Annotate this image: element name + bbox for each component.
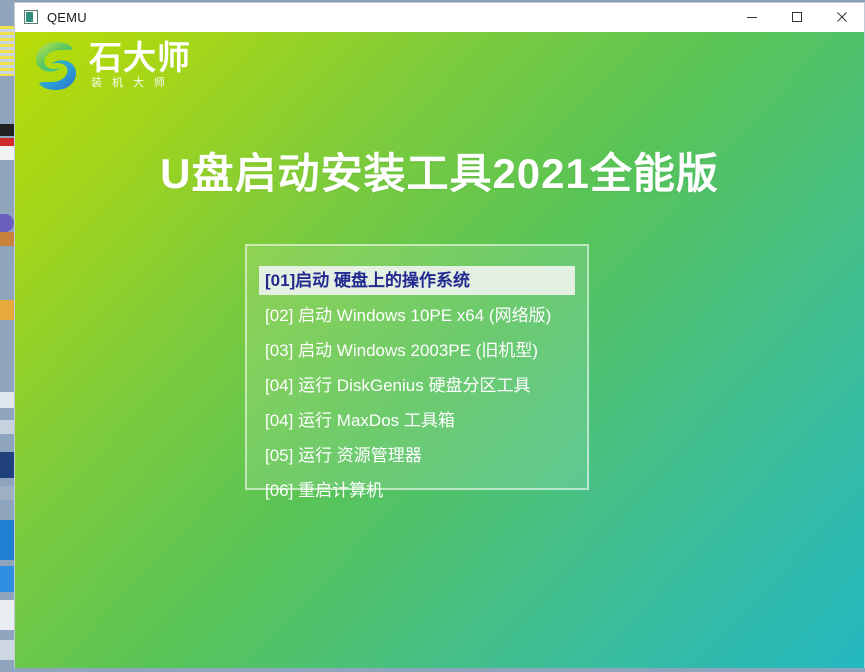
background-window-fragment <box>0 124 14 136</box>
boot-menu-item-06[interactable]: [06] 重启计算机 <box>259 476 575 505</box>
background-window-fragment <box>0 392 14 408</box>
qemu-icon <box>24 10 38 24</box>
maximize-button[interactable] <box>774 3 819 31</box>
maximize-icon <box>791 11 803 23</box>
boot-menu-item-01[interactable]: [01]启动 硬盘上的操作系统 <box>259 266 575 295</box>
page-title: U盘启动安装工具2021全能版 <box>15 146 864 202</box>
close-button[interactable] <box>819 3 864 31</box>
shidashi-logo-icon <box>33 40 79 92</box>
background-window-fragment <box>0 138 14 146</box>
close-icon <box>836 11 848 23</box>
desktop-bottom-strip <box>0 668 865 672</box>
qemu-guest-display: 石大师 装机大师 U盘启动安装工具2021全能版 [01]启动 硬盘上的操作系统… <box>15 32 864 672</box>
background-window-stripes <box>0 26 14 76</box>
brand-tagline: 装机大师 <box>89 75 191 91</box>
window-titlebar[interactable]: QEMU <box>15 3 864 32</box>
background-window-fragment <box>0 566 14 592</box>
background-window-fragment <box>0 640 14 660</box>
boot-menu-panel: [01]启动 硬盘上的操作系统 [02] 启动 Windows 10PE x64… <box>245 244 589 490</box>
brand-logo: 石大师 装机大师 <box>33 40 191 92</box>
minimize-button[interactable] <box>729 3 774 31</box>
background-window-fragment <box>0 300 14 320</box>
background-window-fragment <box>0 600 14 630</box>
window-controls <box>729 3 864 31</box>
boot-menu-item-03[interactable]: [03] 启动 Windows 2003PE (旧机型) <box>259 336 575 365</box>
desktop-background-sliver <box>0 0 14 672</box>
boot-menu-item-02[interactable]: [02] 启动 Windows 10PE x64 (网络版) <box>259 301 575 330</box>
boot-menu-item-04-diskgenius[interactable]: [04] 运行 DiskGenius 硬盘分区工具 <box>259 371 575 400</box>
background-window-fragment <box>0 520 14 560</box>
background-window-fragment <box>0 452 14 478</box>
background-window-fragment <box>0 214 14 232</box>
window-title: QEMU <box>47 10 87 25</box>
background-window-fragment <box>0 146 14 160</box>
background-window-fragment <box>0 486 14 500</box>
boot-menu-item-05[interactable]: [05] 运行 资源管理器 <box>259 441 575 470</box>
screenshot-root: QEMU <box>0 0 865 672</box>
brand-wordmark: 石大师 装机大师 <box>89 41 191 91</box>
background-window-fragment <box>0 420 14 434</box>
boot-menu-item-04-maxdos[interactable]: [04] 运行 MaxDos 工具箱 <box>259 406 575 435</box>
qemu-window: QEMU <box>14 2 865 672</box>
minimize-icon <box>746 11 758 23</box>
brand-name: 石大师 <box>89 41 191 75</box>
background-window-fragment <box>0 232 14 246</box>
